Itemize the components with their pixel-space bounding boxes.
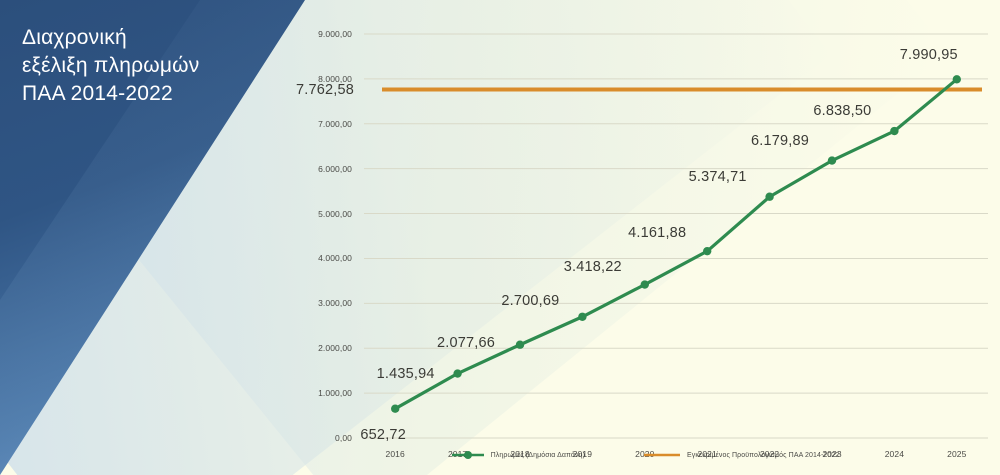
data-point-label: 6.838,50 bbox=[813, 103, 871, 119]
line-icon bbox=[643, 450, 681, 460]
legend-item[interactable]: Εγκεκριμένος Προϋπολογισμός ΠΑΑ 2014-202… bbox=[643, 450, 839, 460]
chart-plot-svg bbox=[296, 18, 994, 475]
y-axis-tick-label: 3.000,00 bbox=[296, 298, 352, 308]
legend-item-label: Πληρωμές (Δημόσια Δαπάνη) bbox=[491, 452, 585, 459]
y-axis-tick-label: 2.000,00 bbox=[296, 343, 352, 353]
data-point-label: 2.077,66 bbox=[437, 335, 495, 351]
slide-root: Διαχρονική εξέλιξη πληρωμών ΠΑΑ 2014-202… bbox=[0, 0, 1000, 475]
data-point-label: 652,72 bbox=[360, 427, 406, 443]
legend-item[interactable]: Πληρωμές (Δημόσια Δαπάνη) bbox=[451, 450, 585, 460]
y-axis-tick-label: 5.000,00 bbox=[296, 209, 352, 219]
y-axis-tick-label: 4.000,00 bbox=[296, 253, 352, 263]
data-point-label: 6.179,89 bbox=[751, 133, 809, 149]
budget-value-label: 7.762,58 bbox=[296, 82, 354, 98]
data-point-label: 4.161,88 bbox=[628, 225, 686, 241]
data-point-label: 3.418,22 bbox=[564, 259, 622, 275]
legend-item-label: Εγκεκριμένος Προϋπολογισμός ΠΑΑ 2014-202… bbox=[687, 452, 839, 459]
data-point-label: 1.435,94 bbox=[377, 366, 435, 382]
y-axis-tick-label: 1.000,00 bbox=[296, 388, 352, 398]
y-axis-tick-label: 6.000,00 bbox=[296, 164, 352, 174]
data-point-label: 7.990,95 bbox=[900, 47, 958, 63]
y-axis-tick-label: 0,00 bbox=[296, 433, 352, 443]
line-marker-icon bbox=[451, 450, 485, 460]
page-title: Διαχρονική εξέλιξη πληρωμών ΠΑΑ 2014-202… bbox=[22, 24, 292, 108]
y-axis-tick-label: 9.000,00 bbox=[296, 29, 352, 39]
chart-legend: Πληρωμές (Δημόσια Δαπάνη)Εγκεκριμένος Πρ… bbox=[296, 450, 994, 460]
data-point-label: 5.374,71 bbox=[689, 169, 747, 185]
line-chart: 0,001.000,002.000,003.000,004.000,005.00… bbox=[296, 18, 994, 475]
y-axis-tick-label: 7.000,00 bbox=[296, 119, 352, 129]
data-point-label: 2.700,69 bbox=[501, 293, 559, 309]
